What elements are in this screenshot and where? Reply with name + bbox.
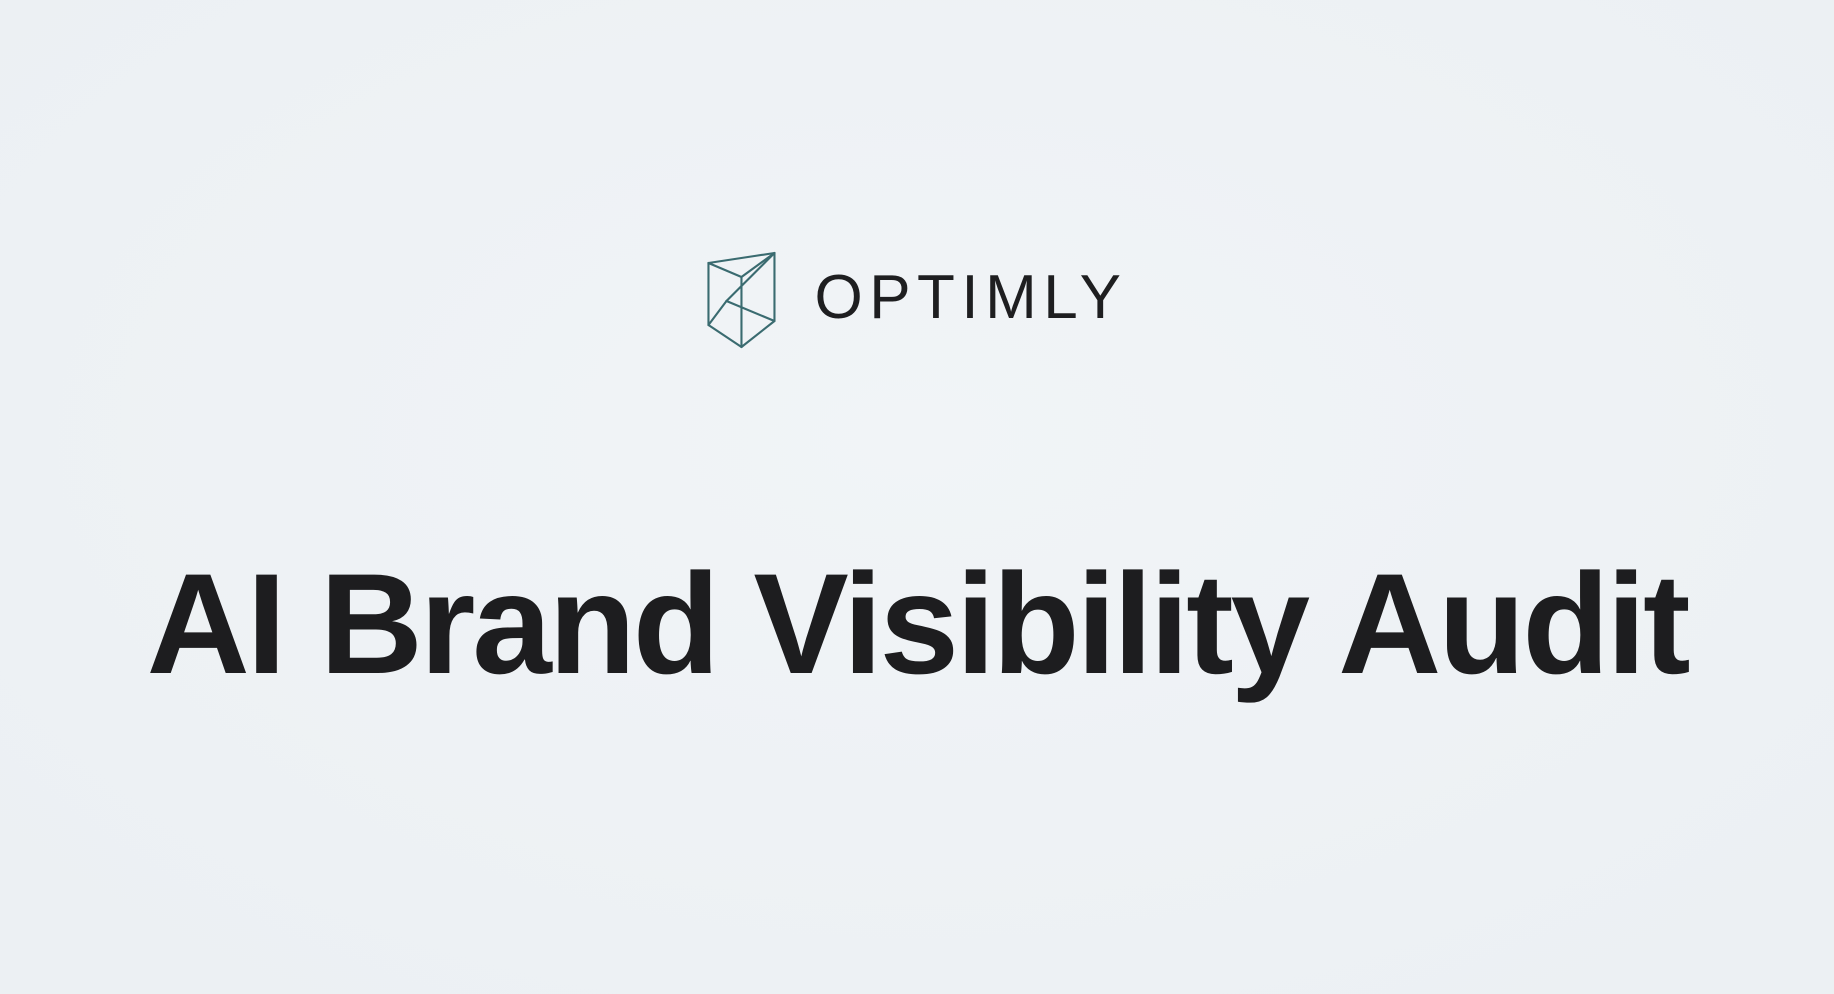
triangular-prism-wireframe-logo-icon	[706, 249, 778, 349]
brand-wordmark: OPTIMLY	[814, 267, 1127, 331]
title-slide: OPTIMLY AI Brand Visibility Audit	[0, 0, 1834, 994]
brand-lockup: OPTIMLY	[706, 247, 1127, 351]
page-title: AI Brand Visibility Audit	[0, 551, 1834, 700]
